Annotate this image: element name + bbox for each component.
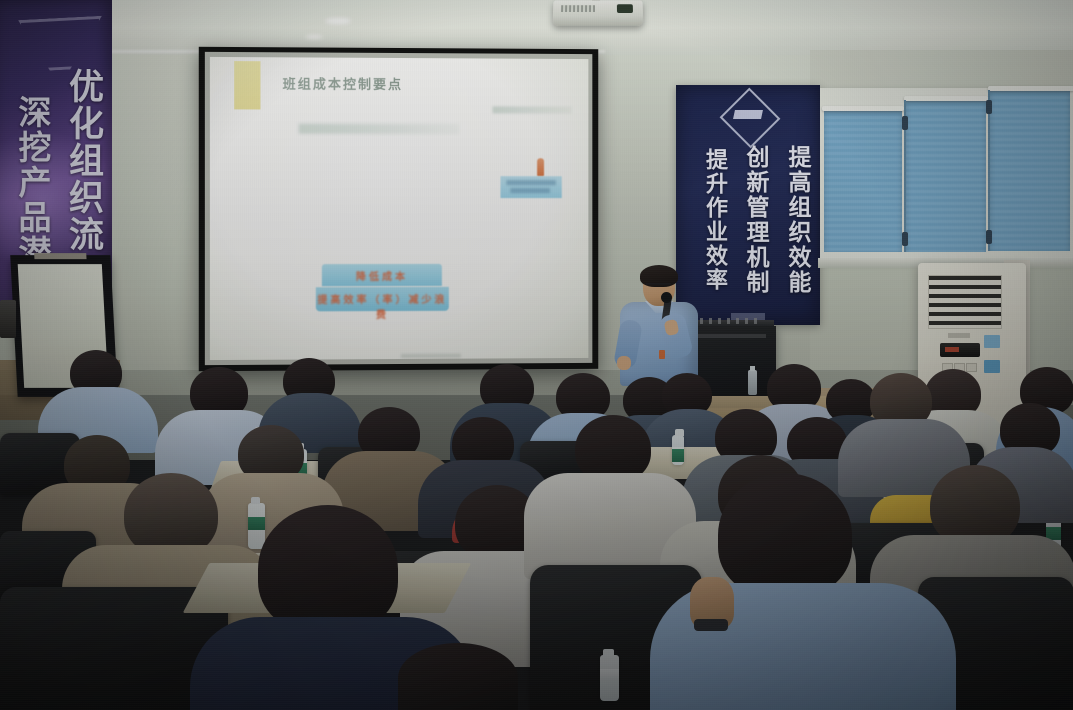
attendee-head-foreground <box>258 505 398 633</box>
window-blind-3[interactable] <box>990 90 1070 251</box>
audience <box>0 355 1073 710</box>
right-banner-column-2: 创新管理机制 <box>738 145 772 323</box>
blind-cord-2[interactable] <box>988 90 990 251</box>
training-room-photo: 深挖产品潜 优化组织流 提升作业效率 创新管理机制 提高组织效能 班组成本控制要… <box>0 0 1073 710</box>
slide-faint-text-right <box>493 106 572 113</box>
blind-cord-grip-1[interactable] <box>902 116 908 130</box>
blind-rail-3 <box>988 86 1073 91</box>
slide-callout-bottom-text: 提高效率（率）减少浪费 <box>316 291 449 322</box>
slide-faint-text-body <box>299 124 459 134</box>
attendee-head-foreground <box>398 643 518 710</box>
ac-display-readout <box>945 347 959 352</box>
glasses-icon <box>646 283 671 291</box>
window-blind-2[interactable] <box>906 100 986 252</box>
company-logo-icon <box>18 16 102 72</box>
slide-blue-block-line-2 <box>510 188 550 193</box>
right-banner-column-3: 提高组织效能 <box>780 145 814 317</box>
av-cabinet-panel <box>696 334 766 338</box>
blind-cord-grip-2[interactable] <box>986 100 992 114</box>
av-control-knobs[interactable] <box>700 318 758 324</box>
projector <box>553 0 644 25</box>
ceiling-light-1 <box>325 18 351 24</box>
ac-brand-logo <box>948 333 970 338</box>
water-bottle <box>248 503 265 549</box>
slide-title: 班组成本控制要点 <box>283 73 403 93</box>
wristwatch <box>694 619 728 631</box>
slide-yellow-accent-bar <box>234 61 260 109</box>
slide-callout-top: 降低成本 <box>322 264 442 286</box>
ac-sticker-1 <box>984 335 1000 348</box>
bottle-cap <box>603 649 614 656</box>
blind-cord-weight-2[interactable] <box>986 230 992 244</box>
slide-callout-bottom: 提高效率（率）减少浪费 <box>316 287 449 311</box>
blind-rail-1 <box>822 106 904 111</box>
projection-screen: 班组成本控制要点 降低成本 提高效率（率）减少浪费 <box>199 47 598 371</box>
bottle-label <box>600 669 619 682</box>
window-blind-1[interactable] <box>824 110 902 252</box>
window-frame <box>820 88 1073 263</box>
bottle-label <box>672 449 684 462</box>
bottle-cap <box>675 429 684 436</box>
slide-surface: 班组成本控制要点 降低成本 提高效率（率）减少浪费 <box>210 57 588 360</box>
slide-callout-top-text: 降低成本 <box>322 268 442 283</box>
blind-rail-2 <box>904 96 988 101</box>
bottle-label <box>248 517 265 530</box>
flipchart-clamp <box>34 253 86 259</box>
company-logo-mark-icon <box>733 110 763 119</box>
slide-blue-block-line-1 <box>506 180 555 185</box>
ceiling-light-2 <box>305 35 323 39</box>
projector-vent <box>561 5 595 12</box>
attendee-head-foreground <box>718 473 852 597</box>
water-bottle-foreground <box>600 655 619 701</box>
microphone-head-icon <box>661 292 672 303</box>
side-object <box>0 300 16 338</box>
water-bottle <box>672 435 684 465</box>
bottle-cap <box>251 497 260 504</box>
projector-lens-icon <box>617 4 633 13</box>
ac-vent-icon <box>928 275 1002 329</box>
slide-figure-icon <box>537 158 544 176</box>
blind-cord-weight-1[interactable] <box>902 232 908 246</box>
blind-cord-1[interactable] <box>904 100 906 252</box>
slide-blue-block <box>500 176 561 198</box>
